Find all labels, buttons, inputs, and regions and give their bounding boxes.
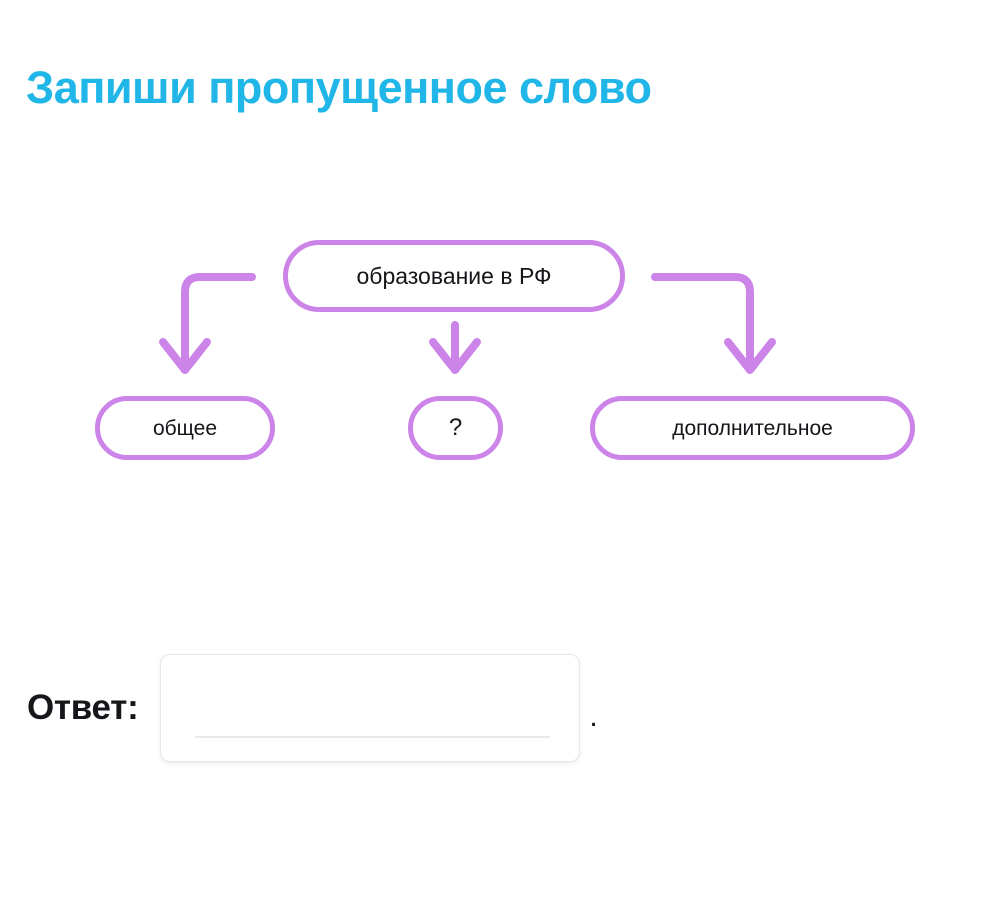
diagram-node-root: образование в РФ bbox=[283, 240, 625, 312]
diagram-node-general-label: общее bbox=[153, 418, 217, 439]
answer-trailing-period: . bbox=[589, 682, 597, 734]
diagram-node-missing-label: ? bbox=[449, 416, 462, 440]
answer-label: Ответ: bbox=[27, 688, 138, 728]
diagram-node-root-label: образование в РФ bbox=[356, 265, 551, 288]
answer-input-wrapper bbox=[160, 654, 580, 762]
arrow-root-to-left bbox=[163, 277, 252, 370]
diagram-node-missing: ? bbox=[408, 396, 503, 460]
answer-input[interactable] bbox=[160, 654, 580, 762]
diagram: образование в РФ общее ? дополнительное bbox=[0, 0, 988, 520]
diagram-node-additional-label: дополнительное bbox=[672, 418, 833, 439]
arrow-root-to-right bbox=[655, 277, 772, 370]
diagram-node-general: общее bbox=[95, 396, 275, 460]
arrow-root-to-middle bbox=[433, 325, 477, 370]
answer-row: Ответ: . bbox=[27, 654, 598, 762]
diagram-node-additional: дополнительное bbox=[590, 396, 915, 460]
